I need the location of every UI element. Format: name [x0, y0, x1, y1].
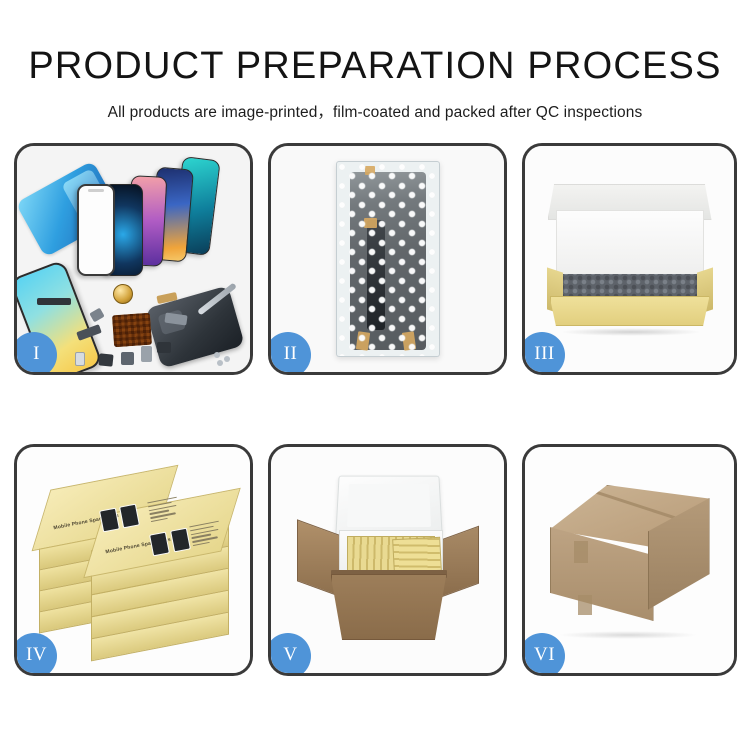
vibrator-icon — [157, 342, 171, 353]
step-badge-6: VI — [522, 633, 565, 676]
drop-shadow — [560, 328, 702, 336]
step-panel-1: I — [14, 143, 253, 375]
white-foam-sheet — [556, 210, 704, 276]
box-front-panel — [550, 296, 710, 326]
step-panel-5: V — [268, 444, 507, 676]
step-1-image — [17, 146, 250, 372]
open-shipping-carton — [297, 474, 479, 646]
page-title: PRODUCT PREPARATION PROCESS — [0, 0, 750, 85]
bubble-highlight-texture — [337, 162, 439, 356]
step-4-image: Mobile Phone Spare Parts Mobile Phone Sp… — [17, 447, 250, 673]
step-badge-5: V — [268, 633, 311, 676]
product-preparation-infographic: PRODUCT PREPARATION PROCESS All products… — [0, 0, 750, 750]
carton-tape-icon — [578, 595, 592, 615]
box-art-phone-icon — [99, 508, 120, 533]
bubble-wrap-package — [336, 161, 440, 357]
step-2-image — [271, 146, 504, 372]
header: PRODUCT PREPARATION PROCESS All products… — [0, 0, 750, 122]
component-bar-icon — [37, 298, 71, 305]
speaker-component-icon — [113, 284, 133, 304]
step-badge-1: I — [14, 332, 57, 375]
packed-retail-boxes — [392, 537, 442, 573]
chip-icon — [121, 352, 134, 365]
process-steps-grid: I II — [14, 143, 738, 676]
sim-tray-icon — [75, 352, 85, 366]
box-art-phone-icon — [119, 504, 140, 529]
open-inner-box — [542, 184, 718, 334]
step-panel-4: Mobile Phone Spare Parts Mobile Phone Sp… — [14, 444, 253, 676]
box-art-phone-icon — [149, 532, 170, 557]
step-panel-3: III — [522, 143, 737, 375]
camera-module-icon — [98, 353, 113, 366]
drop-shadow — [558, 631, 698, 639]
parts-scene — [17, 146, 250, 372]
retail-box-stack: Mobile Phone Spare Parts Mobile Phone Sp… — [39, 471, 229, 649]
step-badge-2: II — [268, 332, 311, 375]
box-art-phone-icon — [170, 528, 191, 553]
step-5-image — [271, 447, 504, 673]
circuit-board-icon — [112, 313, 152, 348]
step-panel-6: VI — [522, 444, 737, 676]
step-badge-4: IV — [14, 633, 57, 676]
screws-icon — [214, 352, 236, 366]
carton-front-panel — [331, 574, 447, 640]
carton-tape-icon — [574, 541, 588, 563]
step-badge-3: III — [522, 332, 565, 375]
phone-screen-icon — [77, 184, 115, 276]
step-panel-2: II — [268, 143, 507, 375]
phone-screen-fan — [95, 158, 245, 278]
page-subtitle: All products are image-printed，film-coat… — [0, 85, 750, 122]
styrofoam-lid — [335, 476, 442, 537]
sealed-shipping-carton — [544, 485, 716, 635]
small-part-icon — [89, 308, 104, 323]
bracket-icon — [141, 346, 152, 362]
